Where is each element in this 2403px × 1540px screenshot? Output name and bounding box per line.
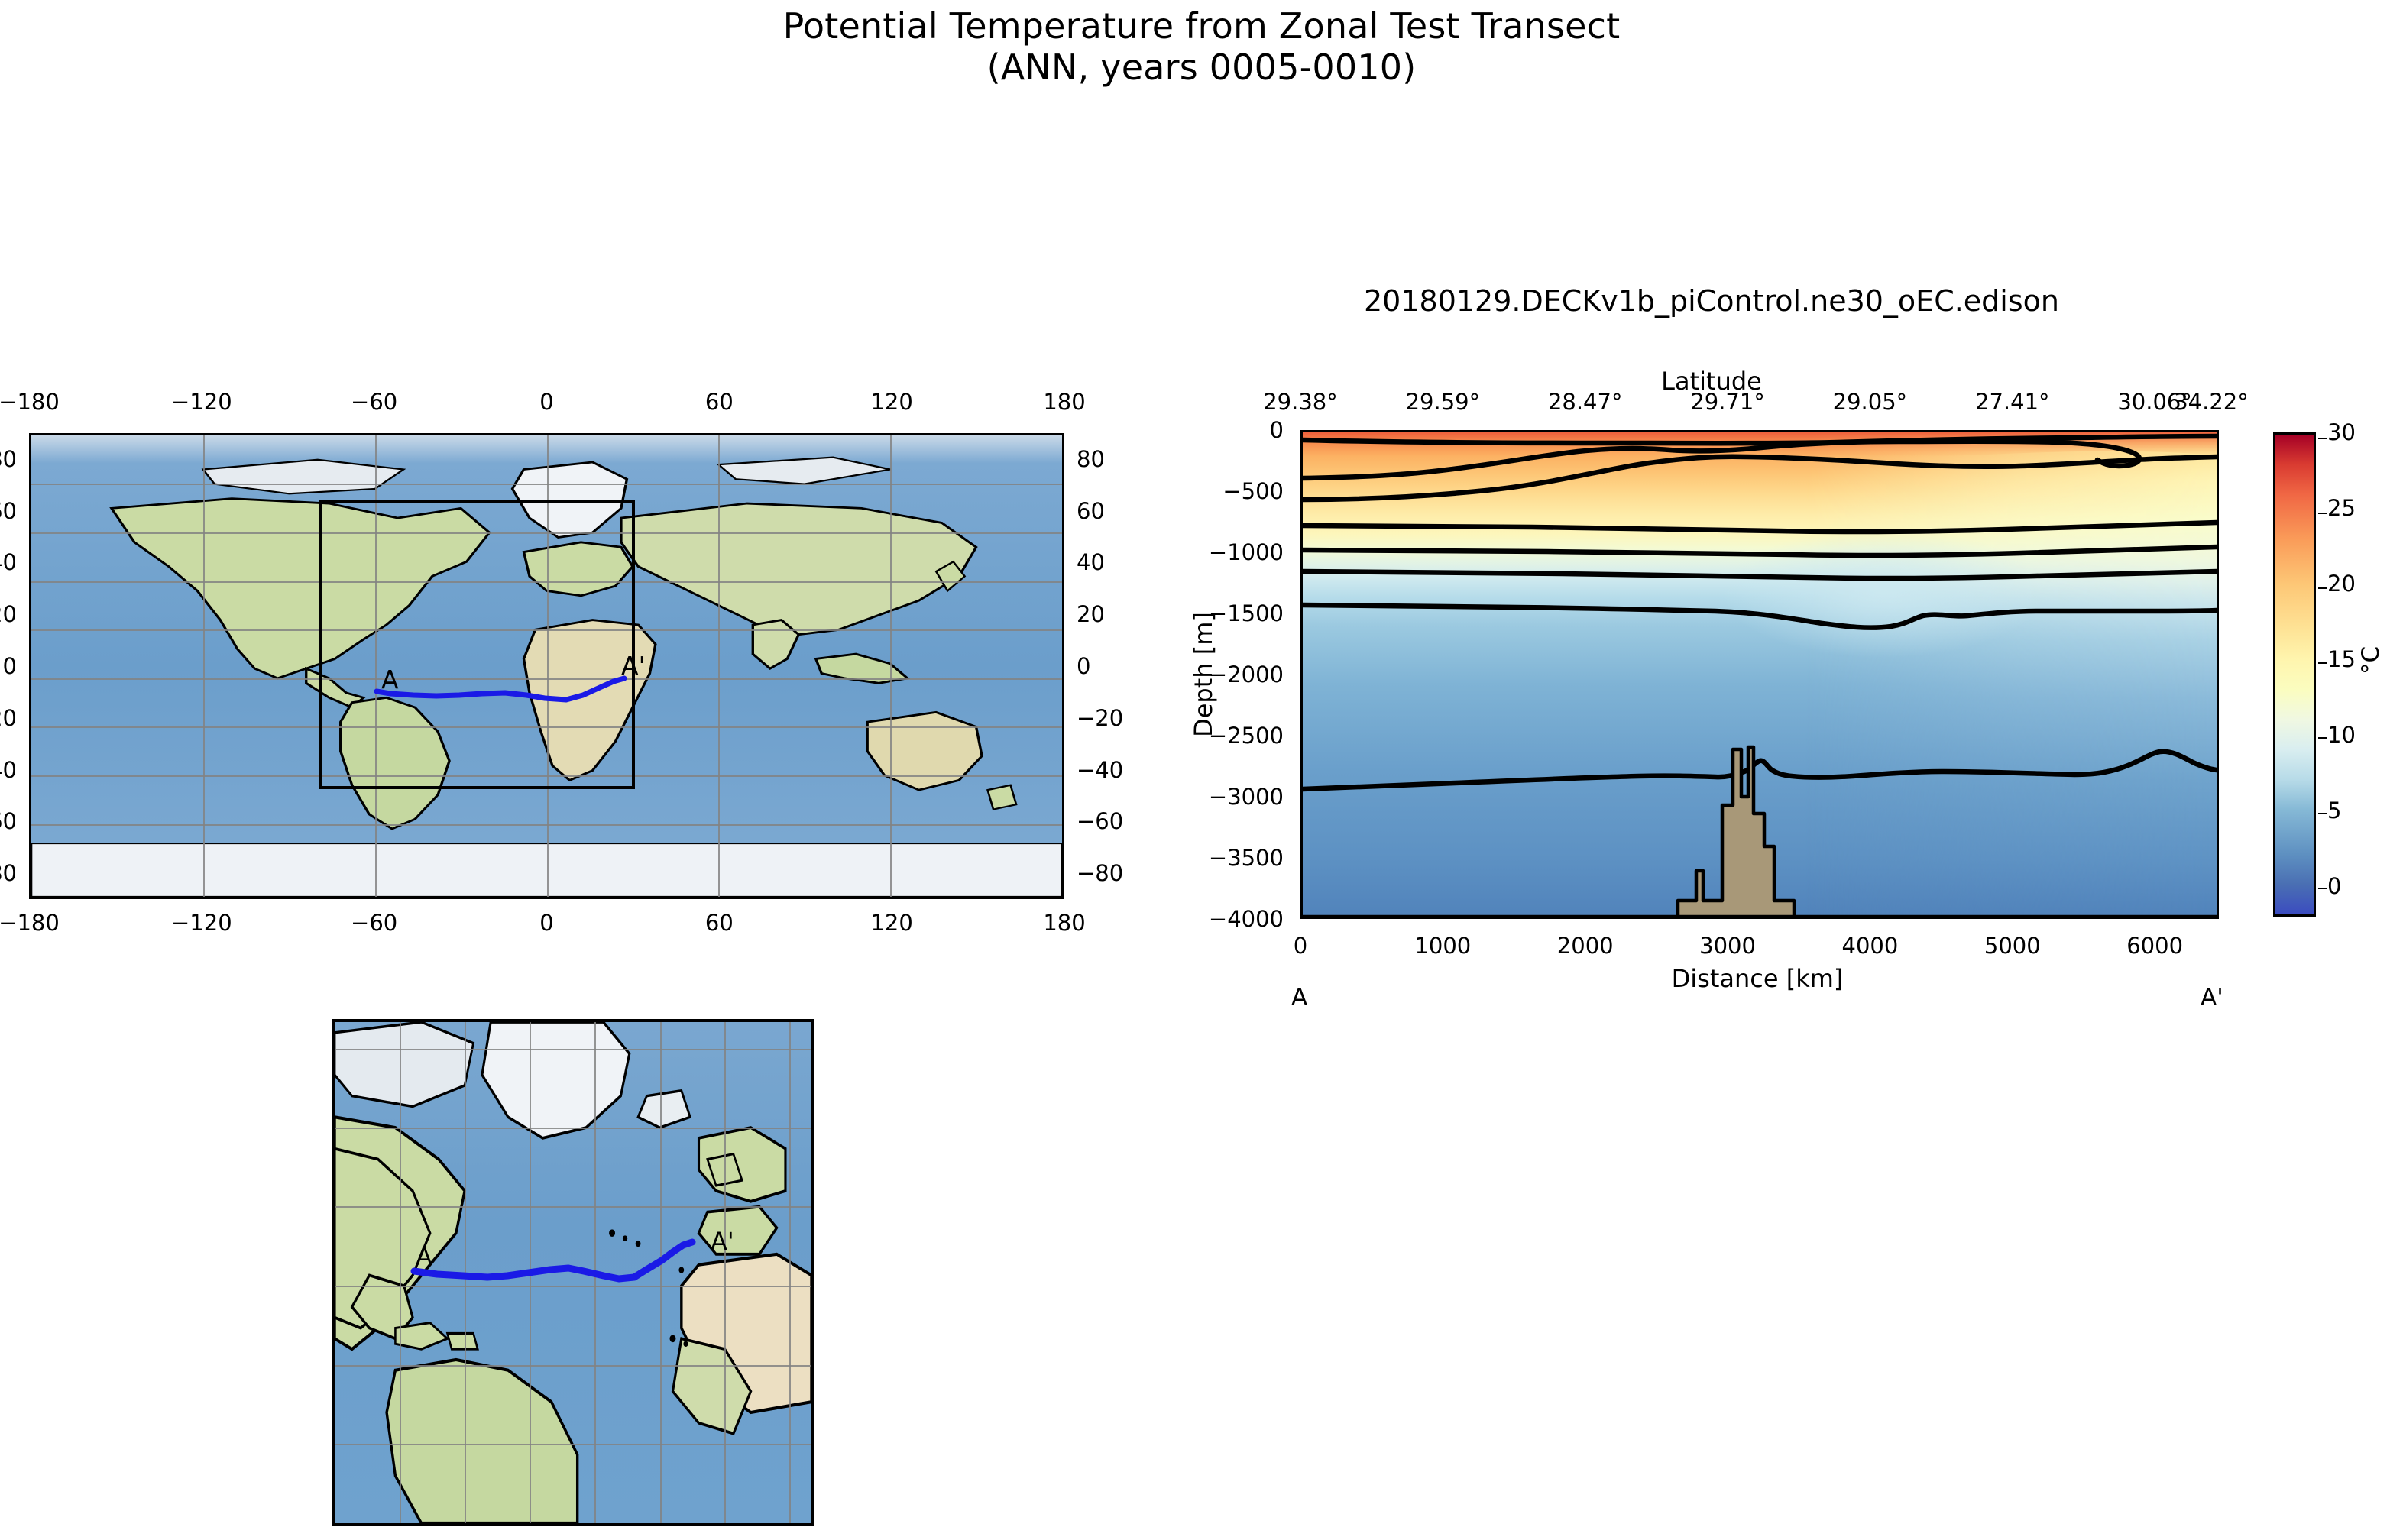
colorbar-unit-label: °C xyxy=(2357,646,2385,675)
inset-transect-line xyxy=(335,1022,811,1523)
colorbar-tick xyxy=(2318,737,2327,739)
xsec-depth-tick xyxy=(1300,432,1303,434)
xsec-latitude-tick: 29.38° xyxy=(1263,389,1338,415)
xsec-top-tick xyxy=(1728,430,1729,432)
xsec-depth-tick xyxy=(1300,917,1303,918)
figure-canvas: Potential Temperature from Zonal Test Tr… xyxy=(0,0,2403,1540)
world-lon-tick-bottom: 60 xyxy=(705,910,734,936)
xsec-depth-label: −3500 xyxy=(1209,845,1284,871)
colorbar-tick-label: 0 xyxy=(2327,873,2341,899)
cross-section-axes[interactable] xyxy=(1300,430,2219,919)
world-lat-tick-right: 20 xyxy=(1077,601,1105,627)
xsec-top-tick xyxy=(2152,430,2154,432)
world-lat-tick-left: 60 xyxy=(0,498,17,524)
xsec-bottom-tick xyxy=(1586,917,1588,919)
xsec-latitude-tick: 29.71° xyxy=(1690,389,1765,415)
xsec-depth-label: −500 xyxy=(1223,478,1284,504)
temperature-colorbar[interactable] xyxy=(2273,432,2316,917)
colorbar-tick-label: 5 xyxy=(2327,797,2341,823)
xsec-depth-tick xyxy=(1300,675,1303,676)
xsec-top-tick xyxy=(2011,430,2013,432)
colorbar-tick xyxy=(2318,438,2327,439)
xsec-depth-label: −4000 xyxy=(1209,906,1284,932)
xsec-depth-tick xyxy=(1300,856,1303,858)
xsec-depth-tick xyxy=(1300,796,1303,797)
xsec-distance-tick: 4000 xyxy=(1842,933,1899,959)
xsec-distance-tick: 2000 xyxy=(1557,933,1614,959)
xsec-depth-label: −2000 xyxy=(1209,662,1284,687)
xsec-depth-label: −1500 xyxy=(1209,600,1284,626)
xsec-latitude-tick: 27.41° xyxy=(1975,389,2050,415)
xsec-top-tick xyxy=(1303,430,1304,432)
world-lat-tick-left: 80 xyxy=(0,446,17,472)
world-lat-tick-right: −60 xyxy=(1077,808,1123,834)
world-transect-start-label: A xyxy=(381,665,399,694)
xsec-depth-tick xyxy=(1300,614,1303,616)
world-lon-tick-top: 0 xyxy=(539,389,553,415)
figure-title-line2: (ANN, years 0005-0010) xyxy=(0,47,2403,89)
inset-transect-end-label: A' xyxy=(711,1227,734,1256)
world-lon-tick-top: −60 xyxy=(351,389,397,415)
world-lon-tick-bottom: 120 xyxy=(870,910,912,936)
distance-axis-label: Distance [km] xyxy=(1672,964,1844,993)
world-lat-tick-left: 20 xyxy=(0,601,17,627)
world-lon-tick-top: −120 xyxy=(171,389,232,415)
world-lat-tick-right: 60 xyxy=(1077,498,1105,524)
world-lat-tick-left: −60 xyxy=(0,808,17,834)
world-lat-tick-left: 0 xyxy=(3,653,17,679)
world-lat-tick-right: 80 xyxy=(1077,446,1105,472)
xsec-distance-tick: 0 xyxy=(1294,933,1307,959)
world-transect-line xyxy=(31,435,1062,897)
world-lat-tick-left: 40 xyxy=(0,549,17,575)
figure-title-line1: Potential Temperature from Zonal Test Tr… xyxy=(783,5,1621,47)
world-lat-tick-right: −20 xyxy=(1077,705,1123,731)
xsec-bottom-tick xyxy=(2152,917,2154,919)
world-lon-tick-bottom: −60 xyxy=(351,910,397,936)
world-lat-tick-right: 40 xyxy=(1077,549,1105,575)
xsec-end-label: A' xyxy=(2201,984,2223,1011)
world-map-axes[interactable]: A A' xyxy=(29,433,1064,899)
xsec-bottom-tick xyxy=(1728,917,1729,919)
cross-section-title: 20180129.DECKv1b_piControl.ne30_oEC.edis… xyxy=(1169,284,2254,318)
cross-section-canvas xyxy=(1303,432,2217,917)
xsec-depth-label: −2500 xyxy=(1209,723,1284,749)
xsec-bottom-tick xyxy=(1870,917,1871,919)
world-lon-tick-bottom: −180 xyxy=(0,910,60,936)
xsec-distance-tick: 5000 xyxy=(1984,933,2041,959)
figure-title: Potential Temperature from Zonal Test Tr… xyxy=(0,6,2403,89)
xsec-depth-tick xyxy=(1300,735,1303,736)
colorbar-tick-label: 10 xyxy=(2327,722,2356,748)
colorbar-tick xyxy=(2318,513,2327,514)
world-lat-tick-left: −80 xyxy=(0,860,17,886)
world-lat-tick-right: 0 xyxy=(1077,653,1090,679)
xsec-bottom-tick xyxy=(2011,917,2013,919)
world-lon-tick-top: 180 xyxy=(1043,389,1085,415)
xsec-bottom-tick xyxy=(1303,917,1304,919)
world-lon-tick-top: 60 xyxy=(705,389,734,415)
xsec-latitude-tick: 28.47° xyxy=(1548,389,1623,415)
inset-map-axes[interactable]: A A' xyxy=(332,1019,814,1526)
world-lon-tick-bottom: 180 xyxy=(1043,910,1085,936)
xsec-depth-tick xyxy=(1300,554,1303,555)
world-lon-tick-bottom: 0 xyxy=(539,910,553,936)
xsec-depth-label: −3000 xyxy=(1209,784,1284,810)
xsec-distance-tick: 6000 xyxy=(2126,933,2183,959)
xsec-start-label: A xyxy=(1291,984,1307,1011)
world-lon-tick-top: −180 xyxy=(0,389,60,415)
xsec-depth-label: −1000 xyxy=(1209,539,1284,565)
colorbar-tick-label: 20 xyxy=(2327,571,2356,597)
colorbar-tick-label: 25 xyxy=(2327,495,2356,521)
world-lat-tick-left: −40 xyxy=(0,757,17,783)
colorbar-tick xyxy=(2318,888,2327,889)
xsec-top-tick xyxy=(1444,430,1446,432)
world-lat-tick-left: −20 xyxy=(0,705,17,731)
xsec-distance-tick: 1000 xyxy=(1414,933,1471,959)
xsec-latitude-tick: 29.59° xyxy=(1406,389,1481,415)
xsec-top-tick xyxy=(1586,430,1588,432)
xsec-top-tick xyxy=(1870,430,1871,432)
colorbar-tick-label: 30 xyxy=(2327,419,2356,445)
inset-transect-start-label: A xyxy=(416,1242,432,1271)
xsec-depth-label: 0 xyxy=(1270,417,1284,443)
world-lon-tick-top: 120 xyxy=(870,389,912,415)
world-lat-tick-right: −40 xyxy=(1077,757,1123,783)
colorbar-tick-label: 15 xyxy=(2327,646,2356,672)
world-lat-tick-right: −80 xyxy=(1077,860,1123,886)
xsec-depth-tick xyxy=(1300,493,1303,494)
xsec-bottom-tick xyxy=(1444,917,1446,919)
colorbar-tick xyxy=(2318,813,2327,814)
colorbar-tick xyxy=(2318,662,2327,664)
colorbar-tick xyxy=(2318,587,2327,589)
world-lon-tick-bottom: −120 xyxy=(171,910,232,936)
world-transect-end-label: A' xyxy=(621,651,646,681)
xsec-latitude-tick: 34.22° xyxy=(2174,389,2249,415)
xsec-distance-tick: 3000 xyxy=(1699,933,1756,959)
xsec-latitude-tick: 29.05° xyxy=(1833,389,1908,415)
